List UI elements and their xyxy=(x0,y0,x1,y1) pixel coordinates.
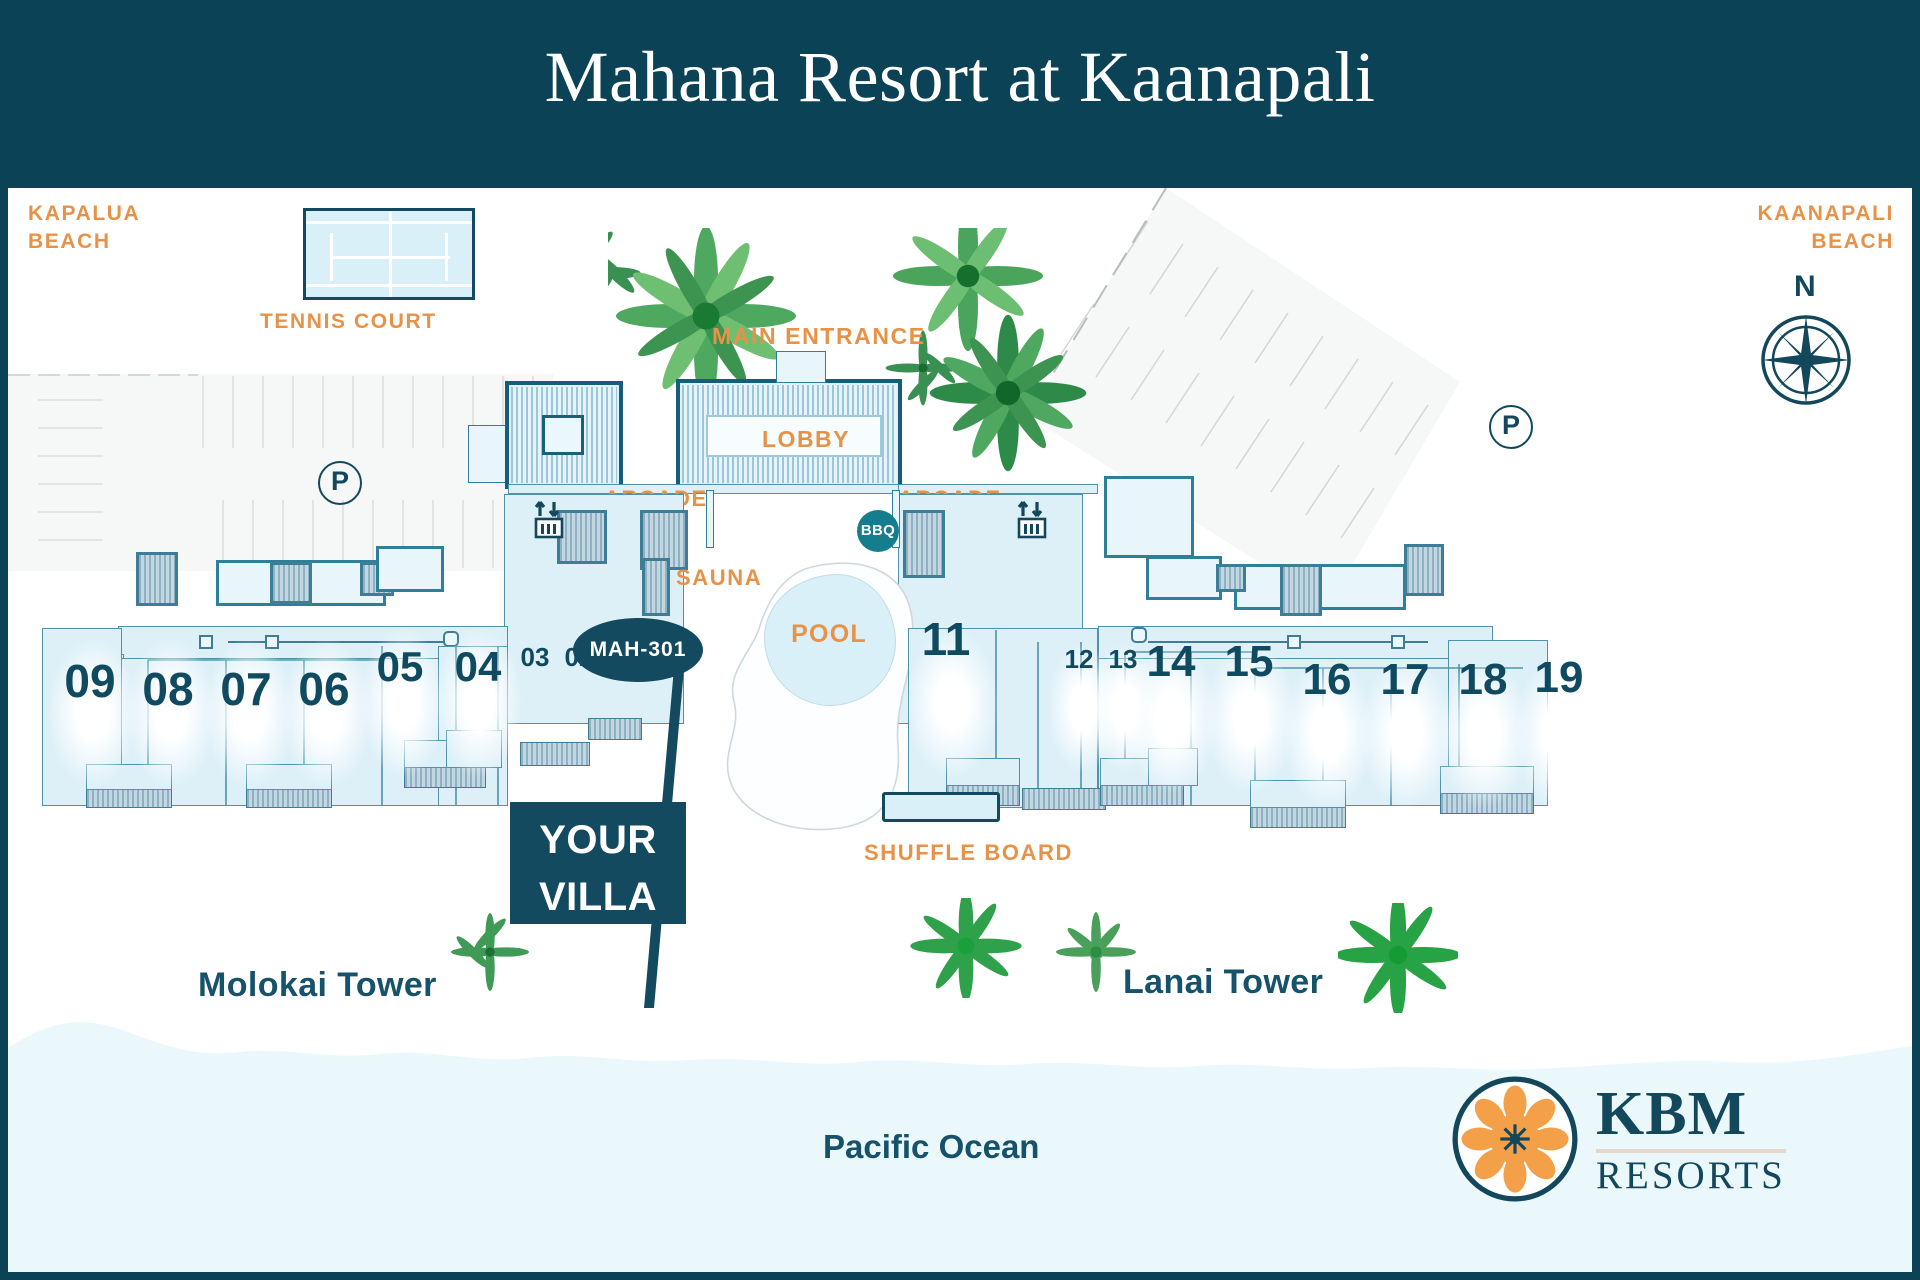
palm-tree-lanai-1 xyxy=(908,898,1028,998)
ocean-label: Pacific Ocean xyxy=(823,1128,1039,1166)
resort-map-page: Mahana Resort at Kaanapali Pacific Ocean… xyxy=(0,0,1920,1280)
lobby-label: LOBBY xyxy=(756,426,856,453)
unit-number-17: 17 xyxy=(1364,658,1446,702)
building-roof-west xyxy=(505,381,623,489)
page-title: Mahana Resort at Kaanapali xyxy=(0,36,1920,119)
lobby-entry-bump xyxy=(776,351,826,383)
molokai-tower-label: Molokai Tower xyxy=(198,966,437,1005)
your-villa-line1: YOUR xyxy=(510,818,686,863)
lanai-tower-label: Lanai Tower xyxy=(1123,963,1323,1002)
unit-number-16: 16 xyxy=(1286,658,1368,702)
kbm-brand-text: KBM xyxy=(1596,1083,1786,1145)
unit-number-07: 07 xyxy=(206,666,286,712)
resort-map: Pacific Ocean KAPALUA BEACH KAANAPALI BE… xyxy=(8,188,1912,1272)
palm-tree-lanai-3 xyxy=(1338,903,1458,1013)
unit-code-label: MAH-301 xyxy=(573,618,703,682)
tennis-court xyxy=(303,208,475,300)
unit-number-11: 11 xyxy=(906,616,986,662)
molokai-balcony-4 xyxy=(520,742,590,766)
connector-west xyxy=(468,425,510,483)
kbm-wordmark: KBM RESORTS xyxy=(1596,1083,1786,1195)
unit-number-09: 09 xyxy=(50,658,130,704)
compass-north-label: N xyxy=(1794,270,1816,304)
bbq-icon: BBQ xyxy=(857,510,899,552)
unit-number-06: 06 xyxy=(284,666,364,712)
tennis-court-label: TENNIS COURT xyxy=(260,308,437,336)
sauna-block xyxy=(642,558,670,616)
kbm-resorts-logo: KBM RESORTS xyxy=(1452,1076,1786,1202)
elevator-icon-right xyxy=(1015,500,1049,540)
kbm-flower-icon xyxy=(1452,1076,1578,1202)
elevator-icon-left xyxy=(532,500,566,540)
unit-number-05: 05 xyxy=(360,646,440,688)
lanai-balcony-4 xyxy=(1250,806,1346,828)
unit-number-03: 03 xyxy=(512,644,558,670)
palm-tree-lanai-2 xyxy=(1048,908,1148,998)
unit-number-15: 15 xyxy=(1208,640,1290,684)
lanai-roof-unit-3 xyxy=(1104,476,1194,558)
unit-number-18: 18 xyxy=(1442,658,1524,702)
molokai-balcony-1 xyxy=(86,788,172,808)
unit-number-14: 14 xyxy=(1130,640,1212,684)
kbm-rule xyxy=(1596,1149,1786,1153)
kaanapali-beach-label: KAANAPALI BEACH xyxy=(1757,200,1894,257)
molokai-balcony-2 xyxy=(246,788,332,808)
your-villa-callout: YOUR VILLA xyxy=(510,802,686,924)
ocean-wave-edge xyxy=(8,1002,1912,1072)
unit-number-12: 12 xyxy=(1056,646,1102,672)
molokai-roof-unit-2 xyxy=(376,546,444,592)
compass-rose-icon xyxy=(1756,310,1856,410)
parking-icon-left: P xyxy=(318,461,362,505)
main-entrance-label: MAIN ENTRANCE xyxy=(712,321,926,352)
unit-number-19: 19 xyxy=(1518,656,1600,700)
page-header: Mahana Resort at Kaanapali xyxy=(0,0,1920,188)
shuffle-board xyxy=(882,792,1000,822)
pool-label: POOL xyxy=(764,620,894,649)
kapalua-beach-label: KAPALUA BEACH xyxy=(28,200,140,257)
kbm-resorts-text: RESORTS xyxy=(1596,1156,1786,1195)
parking-icon-right: P xyxy=(1489,405,1533,449)
your-villa-line2: VILLA xyxy=(510,875,686,920)
arcade-wall-left xyxy=(706,490,714,548)
lanai-balcony-2 xyxy=(1022,788,1106,810)
unit-code-bubble: MAH-301 xyxy=(573,618,703,682)
shuffle-board-label: SHUFFLE BOARD xyxy=(864,838,1073,868)
unit-number-04: 04 xyxy=(438,646,518,688)
unit-number-08: 08 xyxy=(128,666,208,712)
